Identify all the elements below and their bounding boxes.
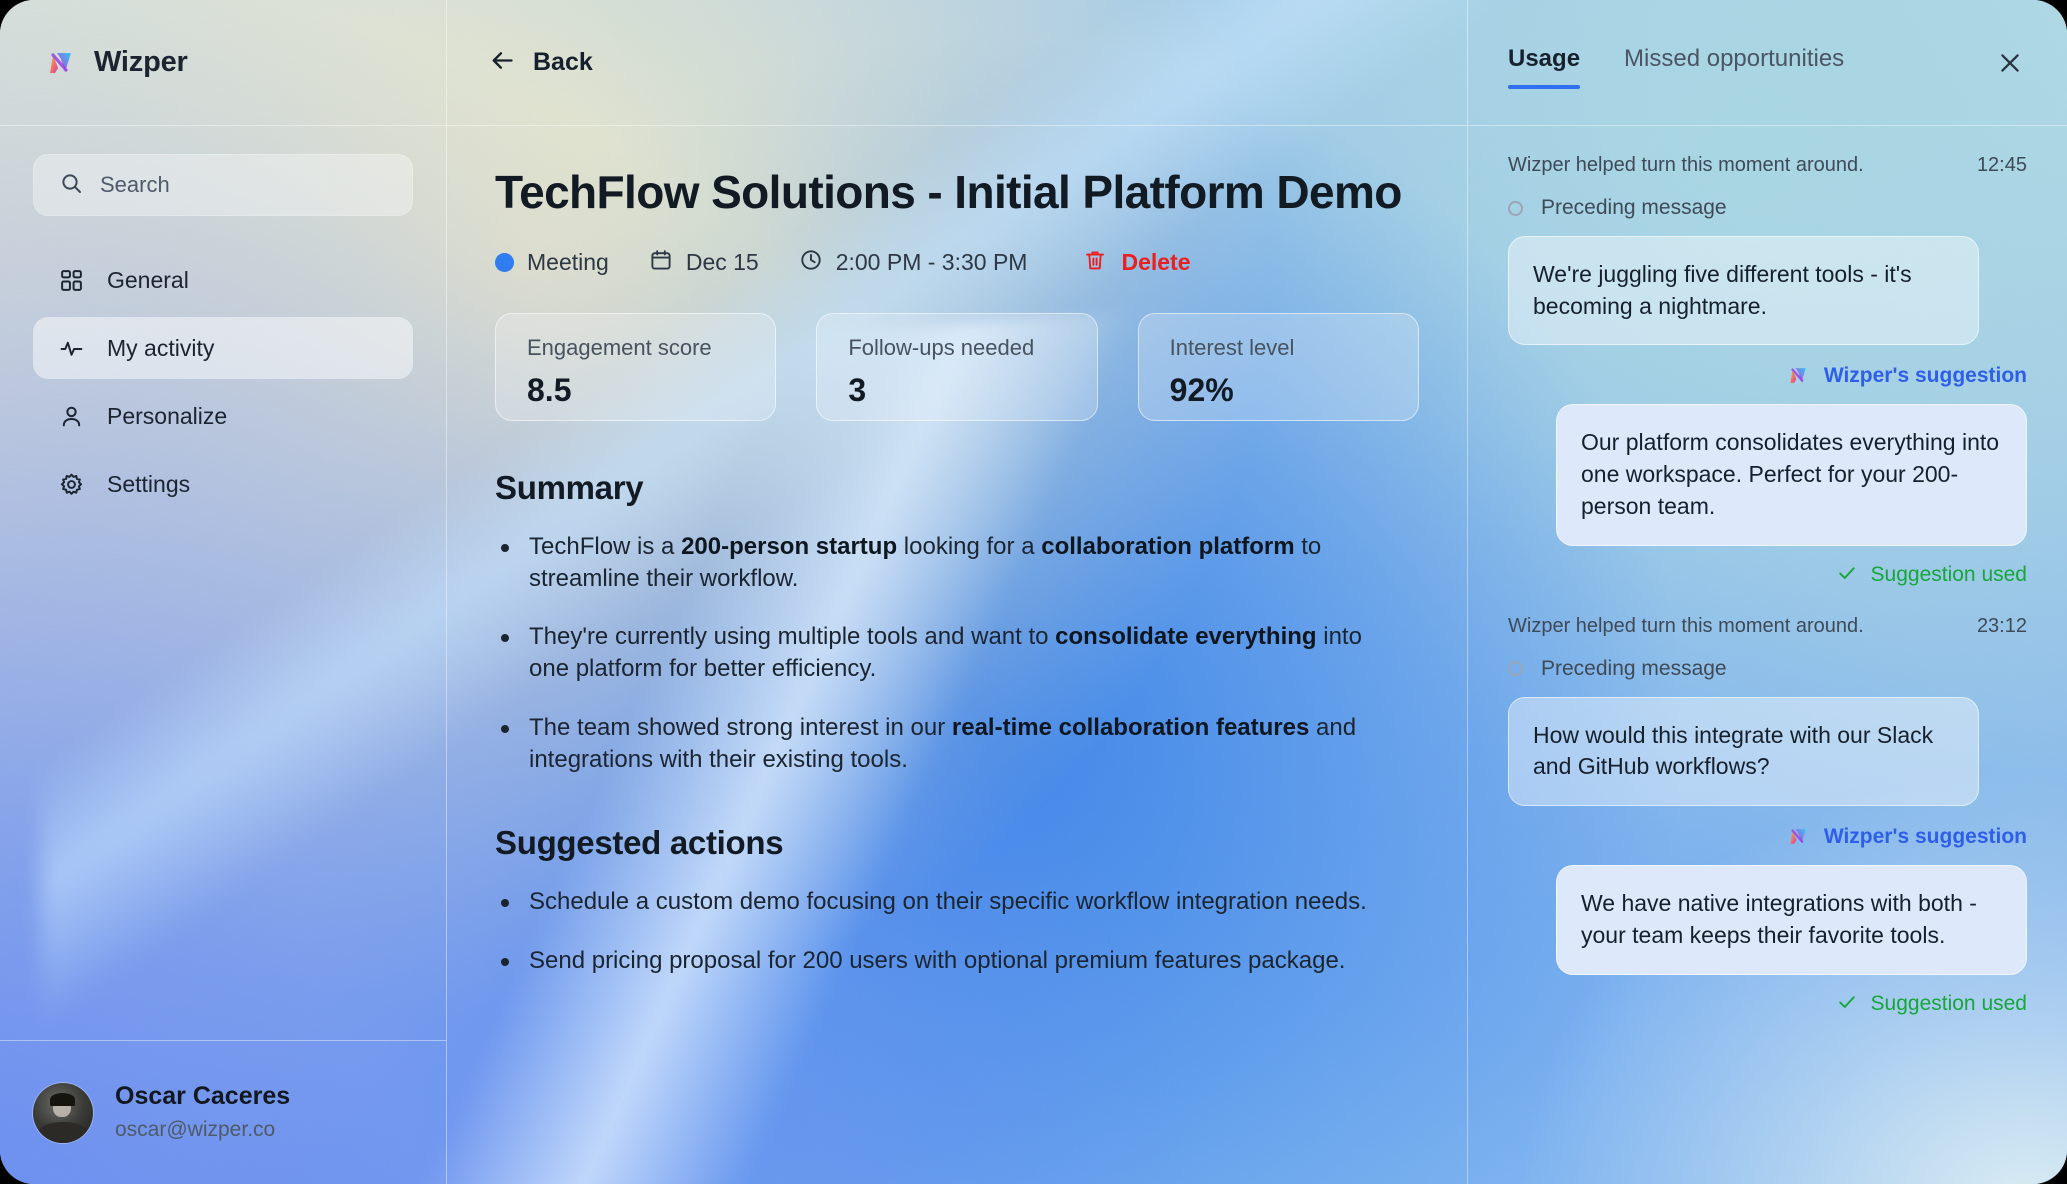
- meeting-date-label: Dec 15: [686, 249, 759, 276]
- incoming-message-bubble: How would this integrate with our Slack …: [1508, 697, 1979, 806]
- tab-usage[interactable]: Usage: [1508, 45, 1580, 81]
- trash-icon: [1083, 248, 1107, 277]
- delete-label: Delete: [1121, 249, 1190, 276]
- back-button[interactable]: Back: [489, 47, 593, 79]
- insights-panel-body: Wizper helped turn this moment around. 1…: [1468, 126, 2067, 1184]
- stat-value: 3: [848, 372, 1065, 409]
- meeting-type-label: Meeting: [527, 249, 609, 276]
- stat-value: 92%: [1170, 372, 1387, 409]
- suggestion-used-label: Suggestion used: [1871, 992, 2027, 1016]
- stat-label: Interest level: [1170, 335, 1387, 361]
- sidebar-item-settings[interactable]: Settings: [33, 453, 413, 515]
- suggestion-label: Wizper's suggestion: [1824, 825, 2027, 849]
- wizper-wave-logo-icon: [44, 46, 78, 80]
- stat-value: 8.5: [527, 372, 744, 409]
- suggested-actions-heading: Suggested actions: [495, 824, 1419, 862]
- sidebar-item-label: General: [107, 267, 189, 294]
- meta-row: Meeting Dec 15: [495, 248, 1419, 277]
- sidebar-item-label: My activity: [107, 335, 214, 362]
- grid-icon: [58, 267, 84, 293]
- user-profile[interactable]: Oscar Caceres oscar@wizper.co: [0, 1040, 446, 1184]
- main-content: Back TechFlow Solutions - Initial Platfo…: [447, 0, 1468, 1184]
- circle-outline-icon: [1508, 201, 1523, 216]
- app-window: Wizper Search: [0, 0, 2067, 1184]
- stat-card: Engagement score 8.5: [495, 313, 776, 421]
- close-icon[interactable]: [1993, 46, 2027, 80]
- suggestion-status: Suggestion used: [1508, 562, 2027, 589]
- suggestion-message-bubble: Our platform consolidates everything int…: [1556, 404, 2027, 545]
- meeting-time-label: 2:00 PM - 3:30 PM: [836, 249, 1028, 276]
- sidebar-item-label: Settings: [107, 471, 190, 498]
- main-header: Back: [447, 0, 1467, 126]
- insights-panel: Usage Missed opportunities Wizper helped…: [1468, 0, 2067, 1184]
- suggestion-message-bubble: We have native integrations with both - …: [1556, 865, 2027, 974]
- arrow-left-icon: [489, 47, 516, 79]
- wizper-wave-logo-icon: [1786, 363, 1811, 388]
- meeting-date: Dec 15: [649, 248, 759, 277]
- preceding-message-label: Preceding message: [1541, 657, 1727, 681]
- suggestion-header: Wizper's suggestion: [1508, 363, 2027, 388]
- conversation-note: Wizper helped turn this moment around.: [1508, 615, 1864, 638]
- conversation-block: Wizper helped turn this moment around. 1…: [1508, 154, 2027, 589]
- main-body: TechFlow Solutions - Initial Platform De…: [447, 126, 1467, 1184]
- clock-icon: [799, 248, 823, 277]
- sidebar-item-personalize[interactable]: Personalize: [33, 385, 413, 447]
- type-dot-icon: [495, 253, 514, 272]
- suggestion-status: Suggestion used: [1508, 991, 2027, 1018]
- stat-label: Follow-ups needed: [848, 335, 1065, 361]
- suggested-actions-list: Schedule a custom demo focusing on their…: [495, 886, 1419, 977]
- stat-label: Engagement score: [527, 335, 744, 361]
- list-item: TechFlow is a 200-person startup looking…: [495, 531, 1395, 595]
- check-icon: [1836, 562, 1858, 589]
- conversation-time: 12:45: [1977, 154, 2027, 177]
- brand-header: Wizper: [0, 0, 446, 126]
- sidebar-item-my-activity[interactable]: My activity: [33, 317, 413, 379]
- suggestion-label: Wizper's suggestion: [1824, 364, 2027, 388]
- search-input[interactable]: Search: [33, 154, 413, 216]
- sidebar: Wizper Search: [0, 0, 447, 1184]
- list-item: The team showed strong interest in our r…: [495, 712, 1395, 776]
- conversation-block: Wizper helped turn this moment around. 2…: [1508, 615, 2027, 1018]
- user-email: oscar@wizper.co: [115, 1116, 290, 1143]
- sidebar-item-label: Personalize: [107, 403, 227, 430]
- list-item: They're currently using multiple tools a…: [495, 621, 1395, 685]
- page-title: TechFlow Solutions - Initial Platform De…: [495, 168, 1419, 218]
- back-label: Back: [533, 48, 593, 77]
- suggestion-header: Wizper's suggestion: [1508, 824, 2027, 849]
- brand-name: Wizper: [94, 46, 188, 79]
- list-item: Schedule a custom demo focusing on their…: [495, 886, 1395, 918]
- incoming-message-bubble: We're juggling five different tools - it…: [1508, 236, 1979, 345]
- delete-button[interactable]: Delete: [1083, 248, 1190, 277]
- tab-missed-opportunities[interactable]: Missed opportunities: [1624, 45, 1844, 81]
- conversation-time: 23:12: [1977, 615, 2027, 638]
- preceding-message-label: Preceding message: [1541, 196, 1727, 220]
- sidebar-nav: General My activity: [0, 216, 446, 515]
- sidebar-item-general[interactable]: General: [33, 249, 413, 311]
- gear-icon: [58, 471, 84, 497]
- insights-panel-header: Usage Missed opportunities: [1468, 0, 2067, 126]
- conversation-note: Wizper helped turn this moment around.: [1508, 154, 1864, 177]
- summary-heading: Summary: [495, 469, 1419, 507]
- search-icon: [59, 171, 83, 200]
- wizper-wave-logo-icon: [1786, 824, 1811, 849]
- meeting-time: 2:00 PM - 3:30 PM: [799, 248, 1028, 277]
- stat-card: Interest level 92%: [1138, 313, 1419, 421]
- calendar-icon: [649, 248, 673, 277]
- avatar: [33, 1083, 93, 1143]
- activity-pulse-icon: [58, 335, 84, 361]
- circle-outline-icon: [1508, 661, 1523, 676]
- check-icon: [1836, 991, 1858, 1018]
- list-item: Send pricing proposal for 200 users with…: [495, 945, 1395, 977]
- user-icon: [58, 403, 84, 429]
- suggestion-used-label: Suggestion used: [1871, 563, 2027, 587]
- stats-cards: Engagement score 8.5 Follow-ups needed 3…: [495, 313, 1419, 421]
- stat-card: Follow-ups needed 3: [816, 313, 1097, 421]
- user-name: Oscar Caceres: [115, 1081, 290, 1112]
- meeting-type: Meeting: [495, 249, 609, 276]
- summary-list: TechFlow is a 200-person startup looking…: [495, 531, 1419, 776]
- search-placeholder: Search: [100, 172, 170, 198]
